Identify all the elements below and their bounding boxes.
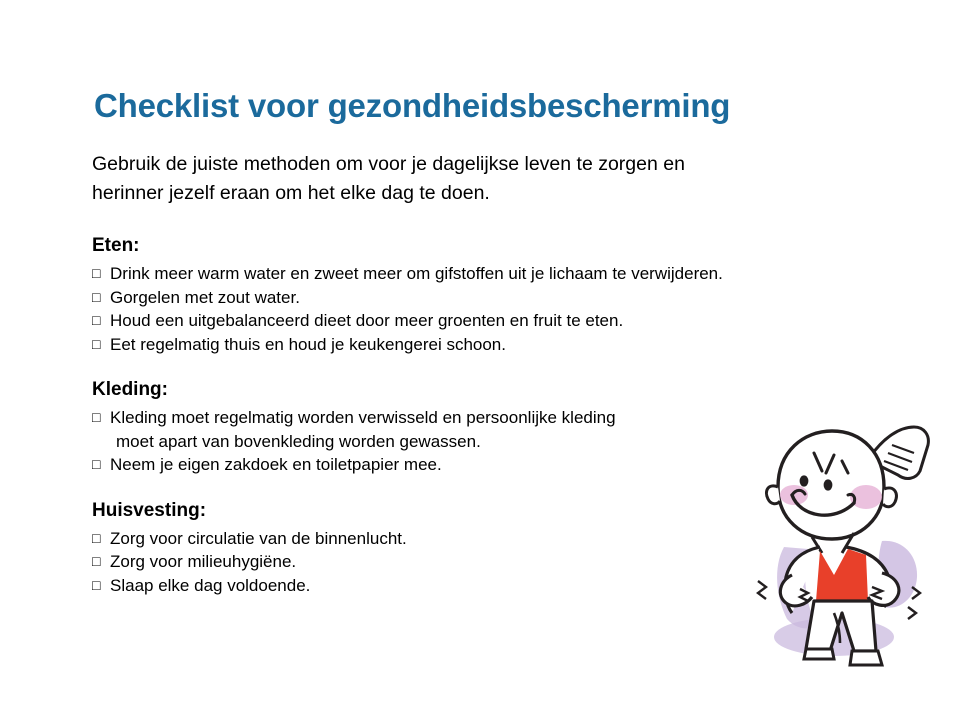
section-huisvesting: Huisvesting: □ Zorg voor circulatie van …	[92, 499, 792, 598]
section-heading-huisvesting: Huisvesting:	[92, 499, 792, 523]
checkbox-icon[interactable]: □	[92, 550, 110, 574]
checklist-item-label: Houd een uitgebalanceerd dieet door meer…	[110, 309, 792, 333]
checklist-item-label: Drink meer warm water en zweet meer om g…	[110, 262, 792, 286]
checklist-eten: □ Drink meer warm water en zweet meer om…	[92, 262, 792, 356]
checkbox-icon[interactable]: □	[92, 453, 110, 477]
slide-body: Gebruik de juiste methoden om voor je da…	[92, 150, 792, 597]
intro-line-2: herinner jezelf eraan om het elke dag te…	[92, 179, 692, 208]
checkbox-icon[interactable]: □	[92, 527, 110, 551]
checklist-item-line-1: Kleding moet regelmatig worden verwissel…	[110, 408, 616, 427]
checklist-item[interactable]: □ Kleding moet regelmatig worden verwiss…	[92, 406, 792, 453]
checklist-item-label: Gorgelen met zout water.	[110, 286, 792, 310]
checkbox-icon[interactable]: □	[92, 309, 110, 333]
section-eten: Eten: □ Drink meer warm water en zweet m…	[92, 234, 792, 356]
checkbox-icon[interactable]: □	[92, 333, 110, 357]
checklist-item-label: Neem je eigen zakdoek en toiletpapier me…	[110, 453, 792, 477]
checkbox-icon[interactable]: □	[92, 406, 110, 430]
checklist-item[interactable]: □ Zorg voor milieuhygiëne.	[92, 550, 792, 574]
section-kleding: Kleding: □ Kleding moet regelmatig worde…	[92, 378, 792, 477]
checklist-item-label: Slaap elke dag voldoende.	[110, 574, 792, 598]
page-title: Checklist voor gezondheidsbescherming	[94, 88, 894, 124]
intro-paragraph: Gebruik de juiste methoden om voor je da…	[92, 150, 692, 208]
intro-line-1: Gebruik de juiste methoden om voor je da…	[92, 150, 692, 179]
checklist-item[interactable]: □ Eet regelmatig thuis en houd je keuken…	[92, 333, 792, 357]
checkbox-icon[interactable]: □	[92, 262, 110, 286]
checklist-item-label: Zorg voor circulatie van de binnenlucht.	[110, 527, 792, 551]
checklist-item-line-2: moet apart van bovenkleding worden gewas…	[110, 430, 792, 454]
checklist-item[interactable]: □ Gorgelen met zout water.	[92, 286, 792, 310]
slide-canvas: Checklist voor gezondheidsbescherming Ge…	[0, 0, 960, 720]
checklist-kleding: □ Kleding moet regelmatig worden verwiss…	[92, 406, 792, 477]
checklist-item[interactable]: □ Neem je eigen zakdoek en toiletpapier …	[92, 453, 792, 477]
section-heading-eten: Eten:	[92, 234, 792, 258]
checklist-item[interactable]: □ Drink meer warm water en zweet meer om…	[92, 262, 792, 286]
checkbox-icon[interactable]: □	[92, 574, 110, 598]
section-heading-kleding: Kleding:	[92, 378, 792, 402]
checklist-item-label: Zorg voor milieuhygiëne.	[110, 550, 792, 574]
cartoon-child-illustration	[742, 415, 960, 683]
checklist-item[interactable]: □ Houd een uitgebalanceerd dieet door me…	[92, 309, 792, 333]
checklist-item-label: Kleding moet regelmatig worden verwissel…	[110, 406, 792, 453]
checklist-huisvesting: □ Zorg voor circulatie van de binnenluch…	[92, 527, 792, 598]
checkbox-icon[interactable]: □	[92, 286, 110, 310]
checklist-item[interactable]: □ Slaap elke dag voldoende.	[92, 574, 792, 598]
checklist-item-label: Eet regelmatig thuis en houd je keukenge…	[110, 333, 792, 357]
checklist-item[interactable]: □ Zorg voor circulatie van de binnenluch…	[92, 527, 792, 551]
cartoon-child-icon	[742, 415, 960, 683]
